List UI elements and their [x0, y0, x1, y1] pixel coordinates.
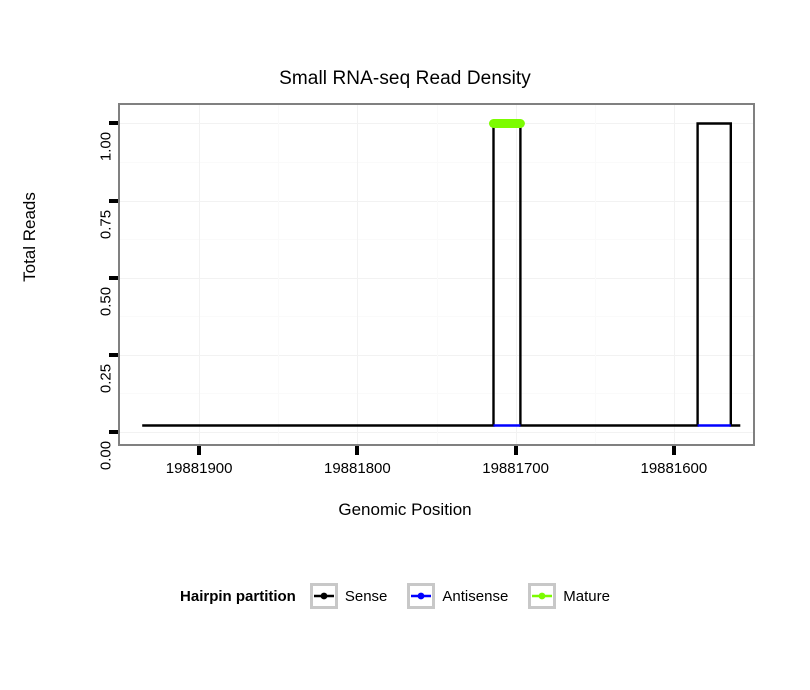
legend-title: Hairpin partition: [180, 588, 296, 605]
legend-item-antisense[interactable]: Antisense: [407, 583, 522, 609]
y-tick-label-0: 0.00: [98, 431, 115, 479]
plot-panel: [118, 103, 755, 446]
legend-item-sense[interactable]: Sense: [310, 583, 402, 609]
x-tick-mark-3: [672, 446, 676, 455]
y-tick-label-4: 1.00: [98, 123, 115, 171]
y-tick-label-3: 0.75: [98, 200, 115, 248]
series-layer: [120, 105, 753, 444]
x-tick-mark-2: [514, 446, 518, 455]
legend-label-sense: Sense: [345, 588, 388, 605]
legend: Hairpin partition SenseAntisenseMature: [0, 583, 810, 609]
x-tick-label-1: 19881800: [324, 460, 391, 477]
x-axis-title: Genomic Position: [0, 500, 810, 520]
y-tick-label-1: 0.25: [98, 354, 115, 402]
x-tick-label-0: 19881900: [166, 460, 233, 477]
series-line-sense: [142, 124, 740, 426]
x-tick-label-3: 19881600: [641, 460, 708, 477]
legend-items: SenseAntisenseMature: [310, 583, 630, 609]
legend-key-mature: [528, 583, 556, 609]
legend-key-sense: [310, 583, 338, 609]
legend-label-mature: Mature: [563, 588, 610, 605]
chart-title: Small RNA-seq Read Density: [0, 68, 810, 90]
legend-key-antisense: [407, 583, 435, 609]
y-axis-title: Total Reads: [20, 157, 40, 317]
plot-panel-inner: [120, 105, 753, 444]
x-tick-mark-1: [355, 446, 359, 455]
x-tick-label-2: 19881700: [482, 460, 549, 477]
chart-root: Small RNA-seq Read Density 0.000.250.500…: [0, 0, 810, 690]
legend-label-antisense: Antisense: [442, 588, 508, 605]
x-tick-mark-0: [197, 446, 201, 455]
legend-item-mature[interactable]: Mature: [528, 583, 624, 609]
y-tick-label-2: 0.50: [98, 277, 115, 325]
